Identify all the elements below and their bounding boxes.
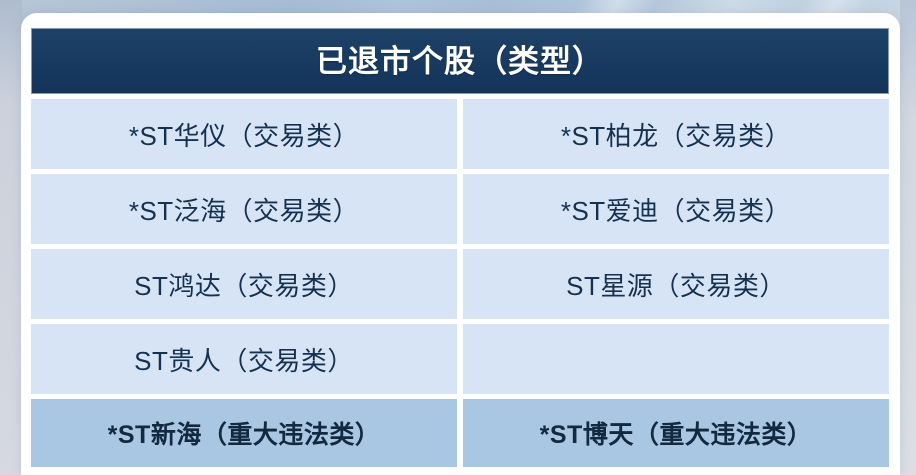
screenshot-root: 已退市个股（类型） *ST华仪（交易类） *ST柏龙（交易类） *ST泛海（交易… xyxy=(0,0,916,475)
table-cell-right[interactable]: *ST柏龙（交易类） xyxy=(463,99,889,169)
table-row: ST鸿达（交易类） ST星源（交易类） xyxy=(31,249,889,319)
table-row: *ST华仪（交易类） *ST柏龙（交易类） xyxy=(31,99,889,169)
background-right-gradient xyxy=(900,0,916,475)
table-cell-right[interactable]: *ST博天（重大违法类） xyxy=(463,399,889,467)
table-cell-left[interactable]: ST鸿达（交易类） xyxy=(31,249,457,319)
table-cell-right-empty xyxy=(463,324,889,394)
table-cell-left[interactable]: *ST泛海（交易类） xyxy=(31,174,457,244)
table-cell-left[interactable]: *ST华仪（交易类） xyxy=(31,99,457,169)
background-left-gradient xyxy=(0,0,22,475)
table-cell-left[interactable]: *ST新海（重大违法类） xyxy=(31,399,457,467)
delisted-stocks-table: 已退市个股（类型） *ST华仪（交易类） *ST柏龙（交易类） *ST泛海（交易… xyxy=(31,28,889,467)
table-title: 已退市个股（类型） xyxy=(316,46,604,77)
table-row: ST贵人（交易类） xyxy=(31,324,889,394)
table-cell-right[interactable]: *ST爱迪（交易类） xyxy=(463,174,889,244)
table-header: 已退市个股（类型） xyxy=(31,28,889,94)
table-row-highlighted: *ST新海（重大违法类） *ST博天（重大违法类） xyxy=(31,399,889,467)
table-cell-left[interactable]: ST贵人（交易类） xyxy=(31,324,457,394)
table-row: *ST泛海（交易类） *ST爱迪（交易类） xyxy=(31,174,889,244)
table-cell-right[interactable]: ST星源（交易类） xyxy=(463,249,889,319)
